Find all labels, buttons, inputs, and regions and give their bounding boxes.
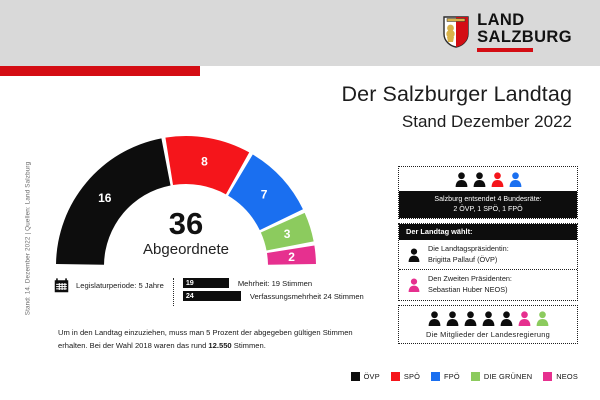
chart-slice-value: 16 bbox=[98, 191, 112, 205]
footnote-part-1: Um in den Landtag einzuziehen, muss man … bbox=[58, 328, 353, 350]
regierung-person-icon bbox=[482, 311, 495, 326]
constitutional-majority-bar: 24 bbox=[183, 291, 241, 301]
majority-bar-caption: Mehrheit: 19 Stimmen bbox=[238, 279, 312, 288]
footnote-part-2: Stimmen. bbox=[232, 341, 266, 350]
majority-bars: 19 Mehrheit: 19 Stimmen 24 Verfassungsme… bbox=[183, 278, 364, 301]
regierung-person-icon bbox=[446, 311, 459, 326]
regierung-person-icon bbox=[500, 311, 513, 326]
legend-item-neos: NEOS bbox=[543, 372, 578, 381]
bundesrat-people-row bbox=[399, 167, 577, 191]
constitutional-majority-bar-value: 24 bbox=[186, 292, 194, 299]
majority-bar: 19 bbox=[183, 278, 229, 288]
bundesrat-caption: Salzburg entsendet 4 Bundesräte: 2 ÖVP, … bbox=[399, 191, 577, 218]
zweiter-praesident-text: Den Zweiten Präsidenten: Sebastian Huber… bbox=[428, 274, 512, 296]
person-icon bbox=[408, 248, 420, 262]
legend-swatch bbox=[391, 372, 400, 381]
legend-label: ÖVP bbox=[364, 372, 380, 381]
threshold-footnote: Um in den Landtag einzuziehen, muss man … bbox=[58, 326, 378, 353]
regierung-person-icon bbox=[536, 311, 549, 326]
legend-item-spö: SPÖ bbox=[391, 372, 420, 381]
footnote-highlight: 12.550 bbox=[208, 341, 231, 350]
logo-line-1: LAND bbox=[477, 12, 572, 29]
page-title: Der Salzburger Landtag bbox=[342, 82, 572, 107]
half-donut-svg: 168732 bbox=[28, 118, 358, 268]
legend-swatch bbox=[351, 372, 360, 381]
logo-line-2: SALZBURG bbox=[477, 29, 572, 46]
legend-swatch bbox=[431, 372, 440, 381]
landtag-waehlt-heading: Der Landtag wählt: bbox=[399, 224, 577, 240]
majority-bar-row: 19 Mehrheit: 19 Stimmen bbox=[183, 278, 364, 288]
page-subtitle: Stand Dezember 2022 bbox=[402, 112, 572, 132]
bundesrat-line-2: 2 ÖVP, 1 SPÖ, 1 FPÖ bbox=[403, 204, 573, 214]
majority-bar-value: 19 bbox=[186, 279, 194, 286]
constitutional-majority-bar-caption: Verfassungsmehrheit 24 Stimmen bbox=[250, 292, 364, 301]
legend-swatch bbox=[543, 372, 552, 381]
zweiter-praesident-name: Sebastian Huber NEOS) bbox=[428, 285, 512, 296]
land-salzburg-logo: LAND SALZBURG bbox=[443, 12, 572, 52]
bundesrat-box: Salzburg entsendet 4 Bundesräte: 2 ÖVP, … bbox=[398, 166, 578, 219]
zweiter-praesident-item: Den Zweiten Präsidenten: Sebastian Huber… bbox=[399, 269, 577, 300]
legend-item-fpö: FPÖ bbox=[431, 372, 460, 381]
zweiter-praesident-role: Den Zweiten Präsidenten: bbox=[428, 274, 512, 285]
legend-label: SPÖ bbox=[404, 372, 420, 381]
legislative-period: Legislaturperiode: 5 Jahre bbox=[54, 278, 164, 293]
legend-item-die-grünen: DIE GRÜNEN bbox=[471, 372, 532, 381]
landtagspraesidentin-text: Die Landtagspräsidentin: Brigitta Pallau… bbox=[428, 244, 509, 266]
chart-slice-value: 8 bbox=[201, 155, 208, 169]
constitutional-majority-bar-row: 24 Verfassungsmehrheit 24 Stimmen bbox=[183, 291, 364, 301]
landtagspraesidentin-role: Die Landtagspräsidentin: bbox=[428, 244, 509, 255]
landtagspraesidentin-item: Die Landtagspräsidentin: Brigitta Pallau… bbox=[399, 240, 577, 270]
bundesrat-person-icon bbox=[491, 172, 504, 187]
legend-swatch bbox=[471, 372, 480, 381]
regierung-person-icon bbox=[428, 311, 441, 326]
seat-distribution-chart: 168732 36 Abgeordnete bbox=[28, 118, 358, 268]
chart-slice-value: 7 bbox=[261, 187, 268, 201]
party-legend: ÖVPSPÖFPÖDIE GRÜNENNEOS bbox=[351, 372, 578, 381]
landesregierung-box: Die Mitglieder der Landesregierung bbox=[398, 305, 578, 344]
regierung-person-icon bbox=[464, 311, 477, 326]
bundesrat-person-icon bbox=[455, 172, 468, 187]
logo-underline bbox=[477, 48, 533, 52]
legend-label: NEOS bbox=[556, 372, 578, 381]
bundesrat-person-icon bbox=[509, 172, 522, 187]
landtagspraesidentin-name: Brigitta Pallauf (ÖVP) bbox=[428, 255, 509, 266]
chart-slice-value: 2 bbox=[288, 250, 295, 264]
dotted-divider bbox=[173, 278, 174, 306]
chart-slice-value: 3 bbox=[284, 227, 291, 241]
stats-row: Legislaturperiode: 5 Jahre 19 Mehrheit: … bbox=[54, 278, 364, 306]
landtag-waehlt-box: Der Landtag wählt: Die Landtagspräsident… bbox=[398, 223, 578, 302]
legend-label: DIE GRÜNEN bbox=[484, 372, 532, 381]
bundesrat-line-1: Salzburg entsendet 4 Bundesräte: bbox=[403, 194, 573, 204]
bundesrat-person-icon bbox=[473, 172, 486, 187]
landesregierung-caption: Die Mitglieder der Landesregierung bbox=[399, 330, 577, 343]
red-accent-bar bbox=[0, 66, 200, 76]
legislative-period-label: Legislaturperiode: 5 Jahre bbox=[76, 281, 164, 290]
landesregierung-people-row bbox=[399, 306, 577, 330]
salzburg-coat-of-arms-shield-icon bbox=[443, 16, 469, 48]
legend-item-övp: ÖVP bbox=[351, 372, 380, 381]
info-panel: Salzburg entsendet 4 Bundesräte: 2 ÖVP, … bbox=[398, 166, 578, 348]
chart-slice-övp bbox=[56, 138, 170, 264]
legend-label: FPÖ bbox=[444, 372, 460, 381]
regierung-person-icon bbox=[518, 311, 531, 326]
calendar-icon bbox=[54, 278, 69, 293]
person-icon bbox=[408, 278, 420, 292]
